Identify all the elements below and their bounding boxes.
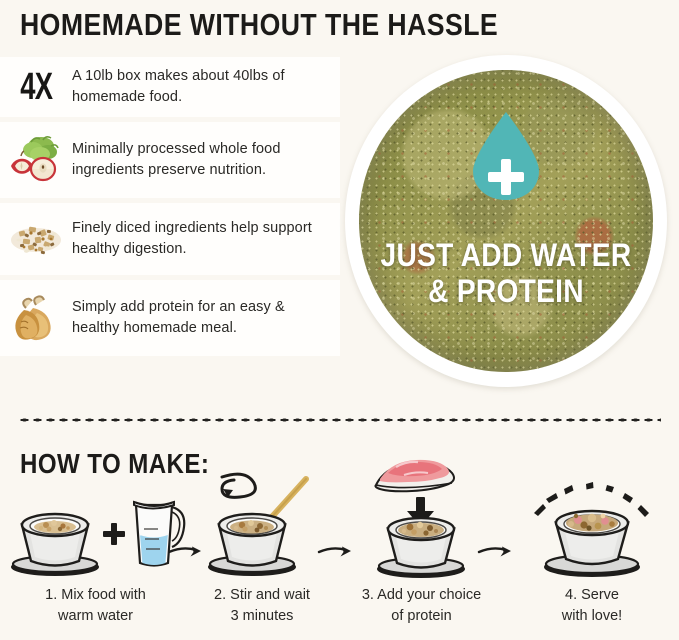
howto-step: 3. Add your choice of protein	[340, 455, 503, 640]
diced-grains-icon	[7, 213, 65, 265]
bowl-headline: JUST ADD WATER & PROTEIN	[345, 237, 667, 309]
dog-bowl-with-food-plus-measuring-cup-icon	[8, 455, 183, 583]
feature-icon-wrap: 4X	[0, 61, 72, 113]
product-bowl-image: JUST ADD WATER & PROTEIN	[345, 55, 667, 387]
feature-row: 4X A 10lb box makes about 40lbs of homem…	[0, 57, 340, 117]
chicken-drumsticks-icon	[7, 292, 65, 344]
finished-bowl-shining-icon	[508, 455, 676, 583]
feature-icon-wrap	[0, 126, 72, 194]
step-caption: 4. Serve with love!	[508, 585, 676, 627]
step-caption: 3. Add your choice of protein	[340, 585, 503, 627]
howto-step: 2. Stir and wait 3 minutes	[188, 455, 336, 640]
howto-step: 1. Mix food with warm water	[8, 455, 183, 640]
4x-multiplier-icon: 4X	[20, 66, 52, 109]
feature-row: Finely diced ingredients help support he…	[0, 203, 340, 275]
raw-meat-over-bowl-icon	[340, 455, 503, 583]
feature-icon-wrap	[0, 207, 72, 271]
dotted-divider	[18, 418, 661, 422]
step-caption-line2: of protein	[340, 606, 503, 627]
feature-row: Minimally processed whole food ingredien…	[0, 122, 340, 198]
step-caption-line2: warm water	[8, 606, 183, 627]
howto-step: 4. Serve with love!	[508, 455, 676, 640]
step-caption-line1: 2. Stir and wait	[188, 585, 336, 606]
feature-list: 4X A 10lb box makes about 40lbs of homem…	[0, 57, 350, 361]
vegetables-apple-icon	[7, 134, 65, 186]
bowl-headline-line2: & PROTEIN	[364, 273, 647, 309]
howto-steps: 1. Mix food with warm water	[0, 455, 679, 640]
step-caption-line1: 3. Add your choice	[340, 585, 503, 606]
infographic-page: HOMEMADE WITHOUT THE HASSLE 4X A 10lb bo…	[0, 0, 679, 640]
page-title: HOMEMADE WITHOUT THE HASSLE	[20, 5, 498, 45]
step-caption-line1: 1. Mix food with	[8, 585, 183, 606]
feature-row: Simply add protein for an easy & healthy…	[0, 280, 340, 356]
step-caption-line1: 4. Serve	[508, 585, 676, 606]
feature-text: Simply add protein for an easy & healthy…	[72, 297, 340, 339]
bowl-headline-line1: JUST ADD WATER	[364, 237, 647, 273]
step-caption-line2: with love!	[508, 606, 676, 627]
feature-text: Minimally processed whole food ingredien…	[72, 139, 340, 181]
step-caption: 2. Stir and wait 3 minutes	[188, 585, 336, 627]
step-caption-line2: 3 minutes	[188, 606, 336, 627]
plus-icon	[488, 159, 524, 195]
feature-text: Finely diced ingredients help support he…	[72, 218, 340, 260]
step-caption: 1. Mix food with warm water	[8, 585, 183, 627]
feature-text: A 10lb box makes about 40lbs of homemade…	[72, 66, 340, 108]
bowl-with-stirring-spoon-icon	[188, 455, 336, 583]
feature-icon-wrap	[0, 284, 72, 352]
bowl-rim	[345, 55, 667, 387]
